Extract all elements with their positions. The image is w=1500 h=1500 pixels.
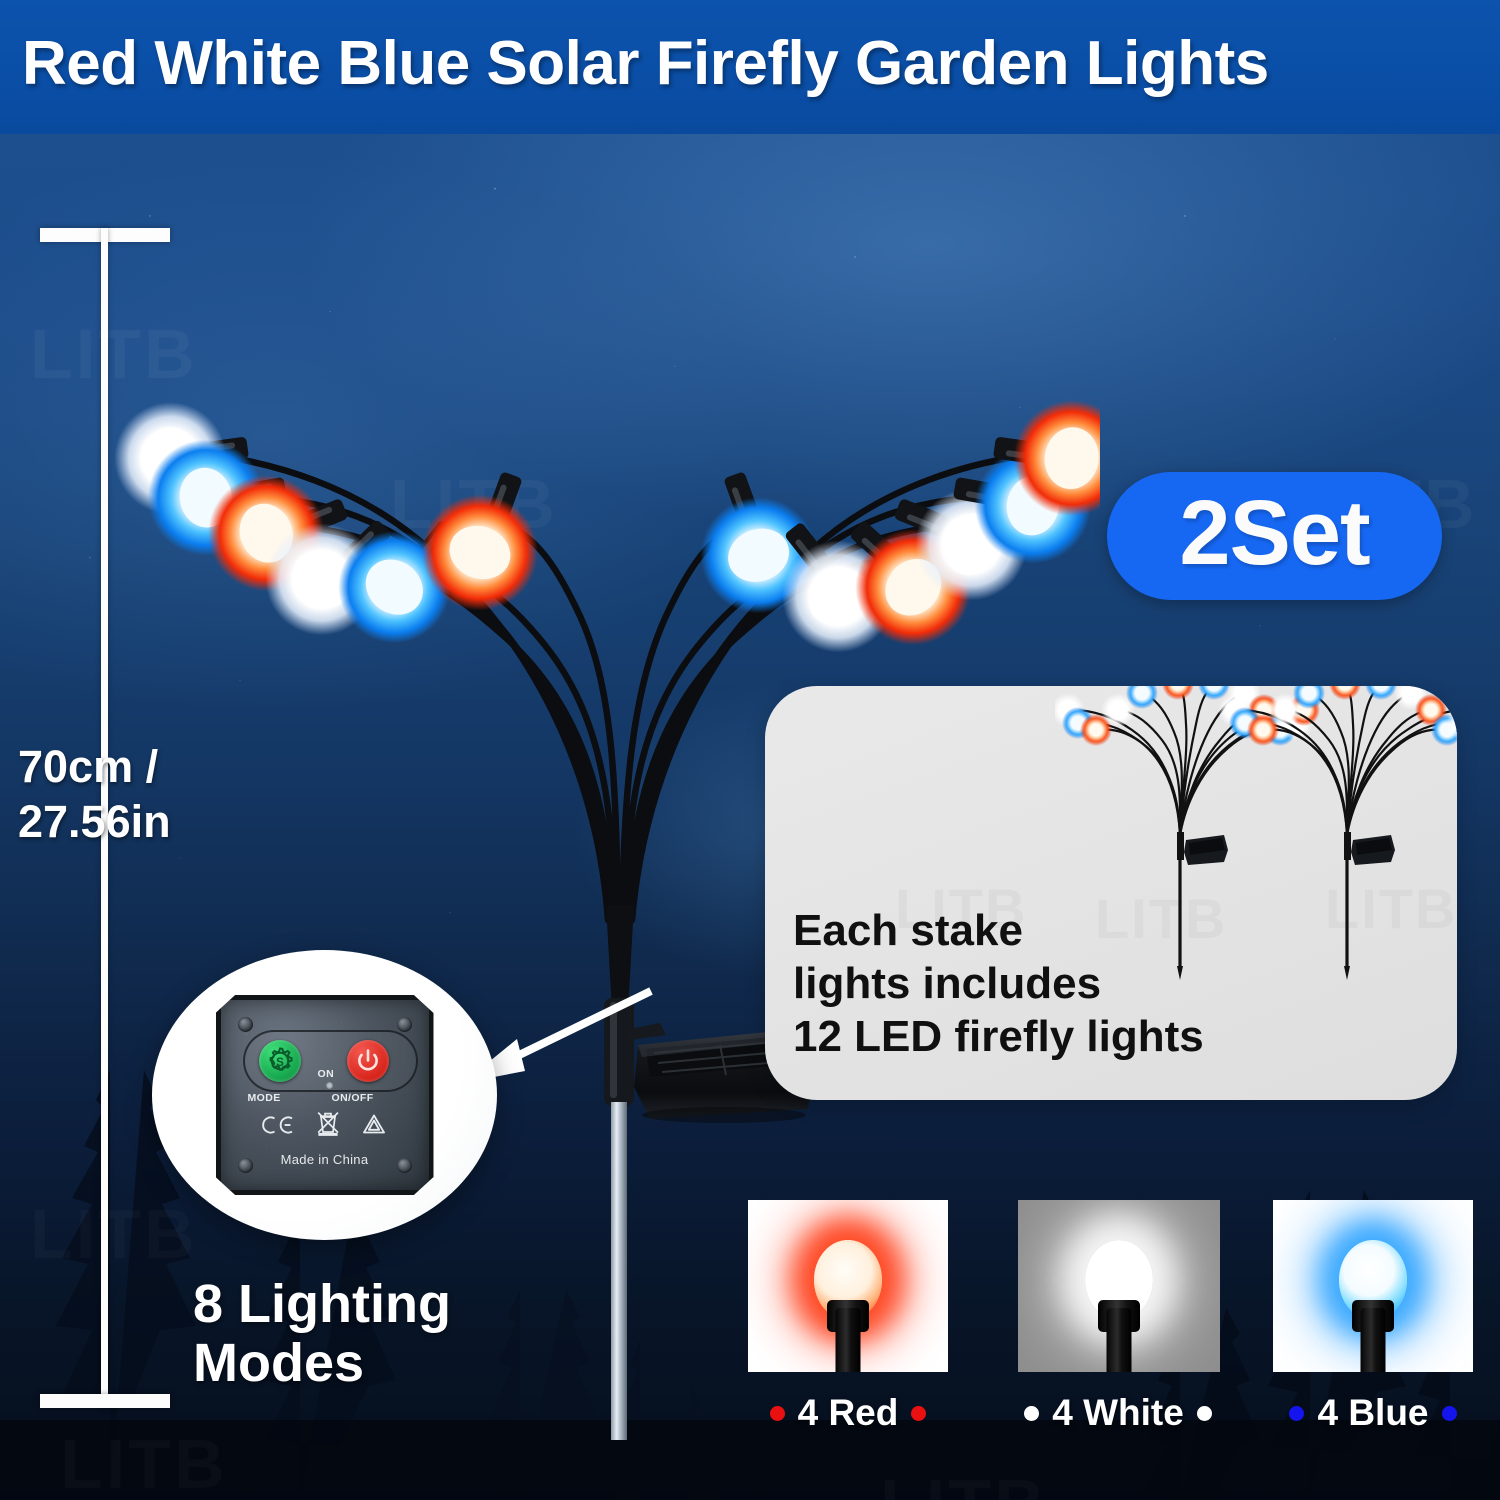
swatch-red-image <box>748 1200 948 1372</box>
recycling-triangle-icon <box>360 1112 388 1138</box>
color-swatch-row: 4 Red 4 White <box>748 1200 1488 1445</box>
swatch-dot-red <box>911 1406 926 1421</box>
swatch-red-label: 4 Red <box>748 1392 948 1434</box>
info-card-caption-line1: Each stake <box>793 904 1273 957</box>
on-indicator-led <box>326 1082 333 1089</box>
mini-solar-panel <box>1351 835 1395 865</box>
header-bar: Red White Blue Solar Firefly Garden Ligh… <box>0 0 1500 134</box>
mini-solar-panel <box>1184 835 1228 865</box>
swatch-dot-white <box>1024 1406 1039 1421</box>
power-button-label: ON/OFF <box>332 1092 374 1104</box>
info-card-caption-line2: lights includes <box>793 957 1273 1010</box>
swatch-dot-blue <box>1442 1406 1457 1421</box>
mini-led-red <box>1162 686 1194 700</box>
info-card-caption-line3: 12 LED firefly lights <box>793 1010 1273 1063</box>
product-infographic: LITB LITB LITB LITB LITB LITB LITB Red W… <box>0 0 1500 1500</box>
ce-mark-icon <box>262 1114 296 1136</box>
quantity-badge-label: 2Set <box>1179 487 1369 579</box>
bulb-stem <box>836 1308 861 1372</box>
screw-icon <box>397 1017 412 1032</box>
bulb-stem <box>1361 1308 1386 1372</box>
mode-button-label: MODE <box>248 1092 281 1104</box>
gear-s-icon: S <box>264 1045 296 1077</box>
origin-text: Made in China <box>221 1152 429 1167</box>
on-indicator-label: ON <box>318 1068 335 1080</box>
lighting-modes-line2: Modes <box>193 1334 623 1393</box>
swatch-white-text: 4 White <box>1052 1392 1184 1434</box>
quantity-badge: 2Set <box>1107 472 1442 600</box>
swatch-white: 4 White <box>1018 1200 1218 1372</box>
swatch-dot-white <box>1197 1406 1212 1421</box>
weee-crossed-bin-icon <box>314 1110 342 1140</box>
mini-led-red <box>1329 686 1361 700</box>
mode-button[interactable]: S <box>259 1040 301 1082</box>
swatch-dot-blue <box>1289 1406 1304 1421</box>
lighting-modes-label: 8 Lighting Modes <box>193 1275 623 1394</box>
certification-marks <box>221 1110 429 1140</box>
page-title: Red White Blue Solar Firefly Garden Ligh… <box>22 28 1269 99</box>
swatch-blue-text: 4 Blue <box>1317 1392 1428 1434</box>
info-card-caption: Each stake lights includes 12 LED firefl… <box>793 904 1273 1064</box>
svg-text:S: S <box>276 1057 284 1069</box>
swatch-blue: 4 Blue <box>1273 1200 1473 1372</box>
swatch-white-image <box>1018 1200 1220 1372</box>
power-icon <box>355 1048 381 1074</box>
swatch-dot-red <box>770 1406 785 1421</box>
swatch-red: 4 Red <box>748 1200 948 1372</box>
lighting-modes-line1: 8 Lighting <box>193 1275 623 1334</box>
screw-icon <box>238 1017 253 1032</box>
info-card-12-led: LITB LITB LITB <box>765 686 1457 1100</box>
solar-panel-underside: S MODE ON ON/OFF <box>216 995 434 1195</box>
solar-panel-detail-closeup: S MODE ON ON/OFF <box>152 950 497 1240</box>
swatch-blue-label: 4 Blue <box>1273 1392 1473 1434</box>
swatch-red-text: 4 Red <box>798 1392 899 1434</box>
bulb-stem <box>1107 1308 1132 1372</box>
swatch-blue-image <box>1273 1200 1473 1372</box>
power-button[interactable] <box>347 1040 389 1082</box>
swatch-white-label: 4 White <box>1018 1392 1218 1434</box>
